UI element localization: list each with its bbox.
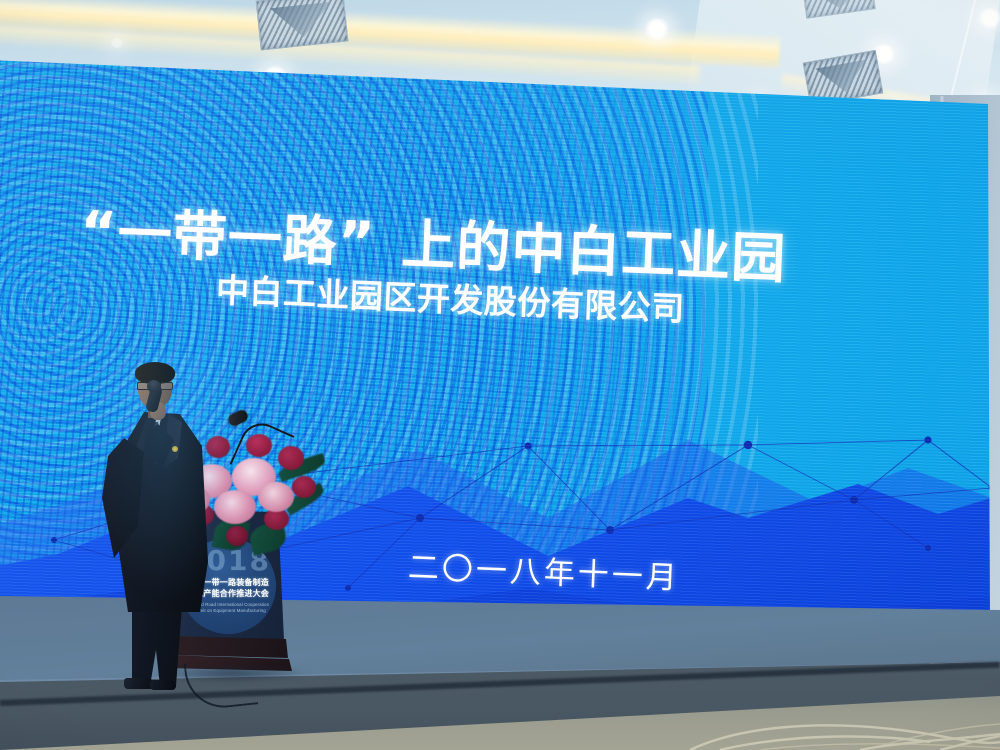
presentation-date: 二〇一八年十一月 <box>407 542 681 598</box>
downlight-5 <box>978 8 1000 28</box>
downlight-10 <box>110 38 124 48</box>
title-part-one: 一带一路 <box>117 202 339 273</box>
flower-lily <box>214 490 256 524</box>
title-quote-open: “ <box>79 199 119 265</box>
flower-lily <box>258 482 294 512</box>
title-quote-close: ” <box>336 209 376 275</box>
conference-stage-photo: “一带一路”上的中白工业园 中白工业园区开发股份有限公司 二〇一八年十一月 20… <box>0 0 1000 750</box>
presenter-figure <box>104 362 214 692</box>
flower-carnation <box>292 476 316 498</box>
downlight-2 <box>644 18 670 40</box>
flower-carnation <box>226 526 248 546</box>
presenter-legs <box>126 606 190 686</box>
presenter-shoe-right <box>150 680 176 690</box>
lapel-pin-icon <box>172 446 178 452</box>
